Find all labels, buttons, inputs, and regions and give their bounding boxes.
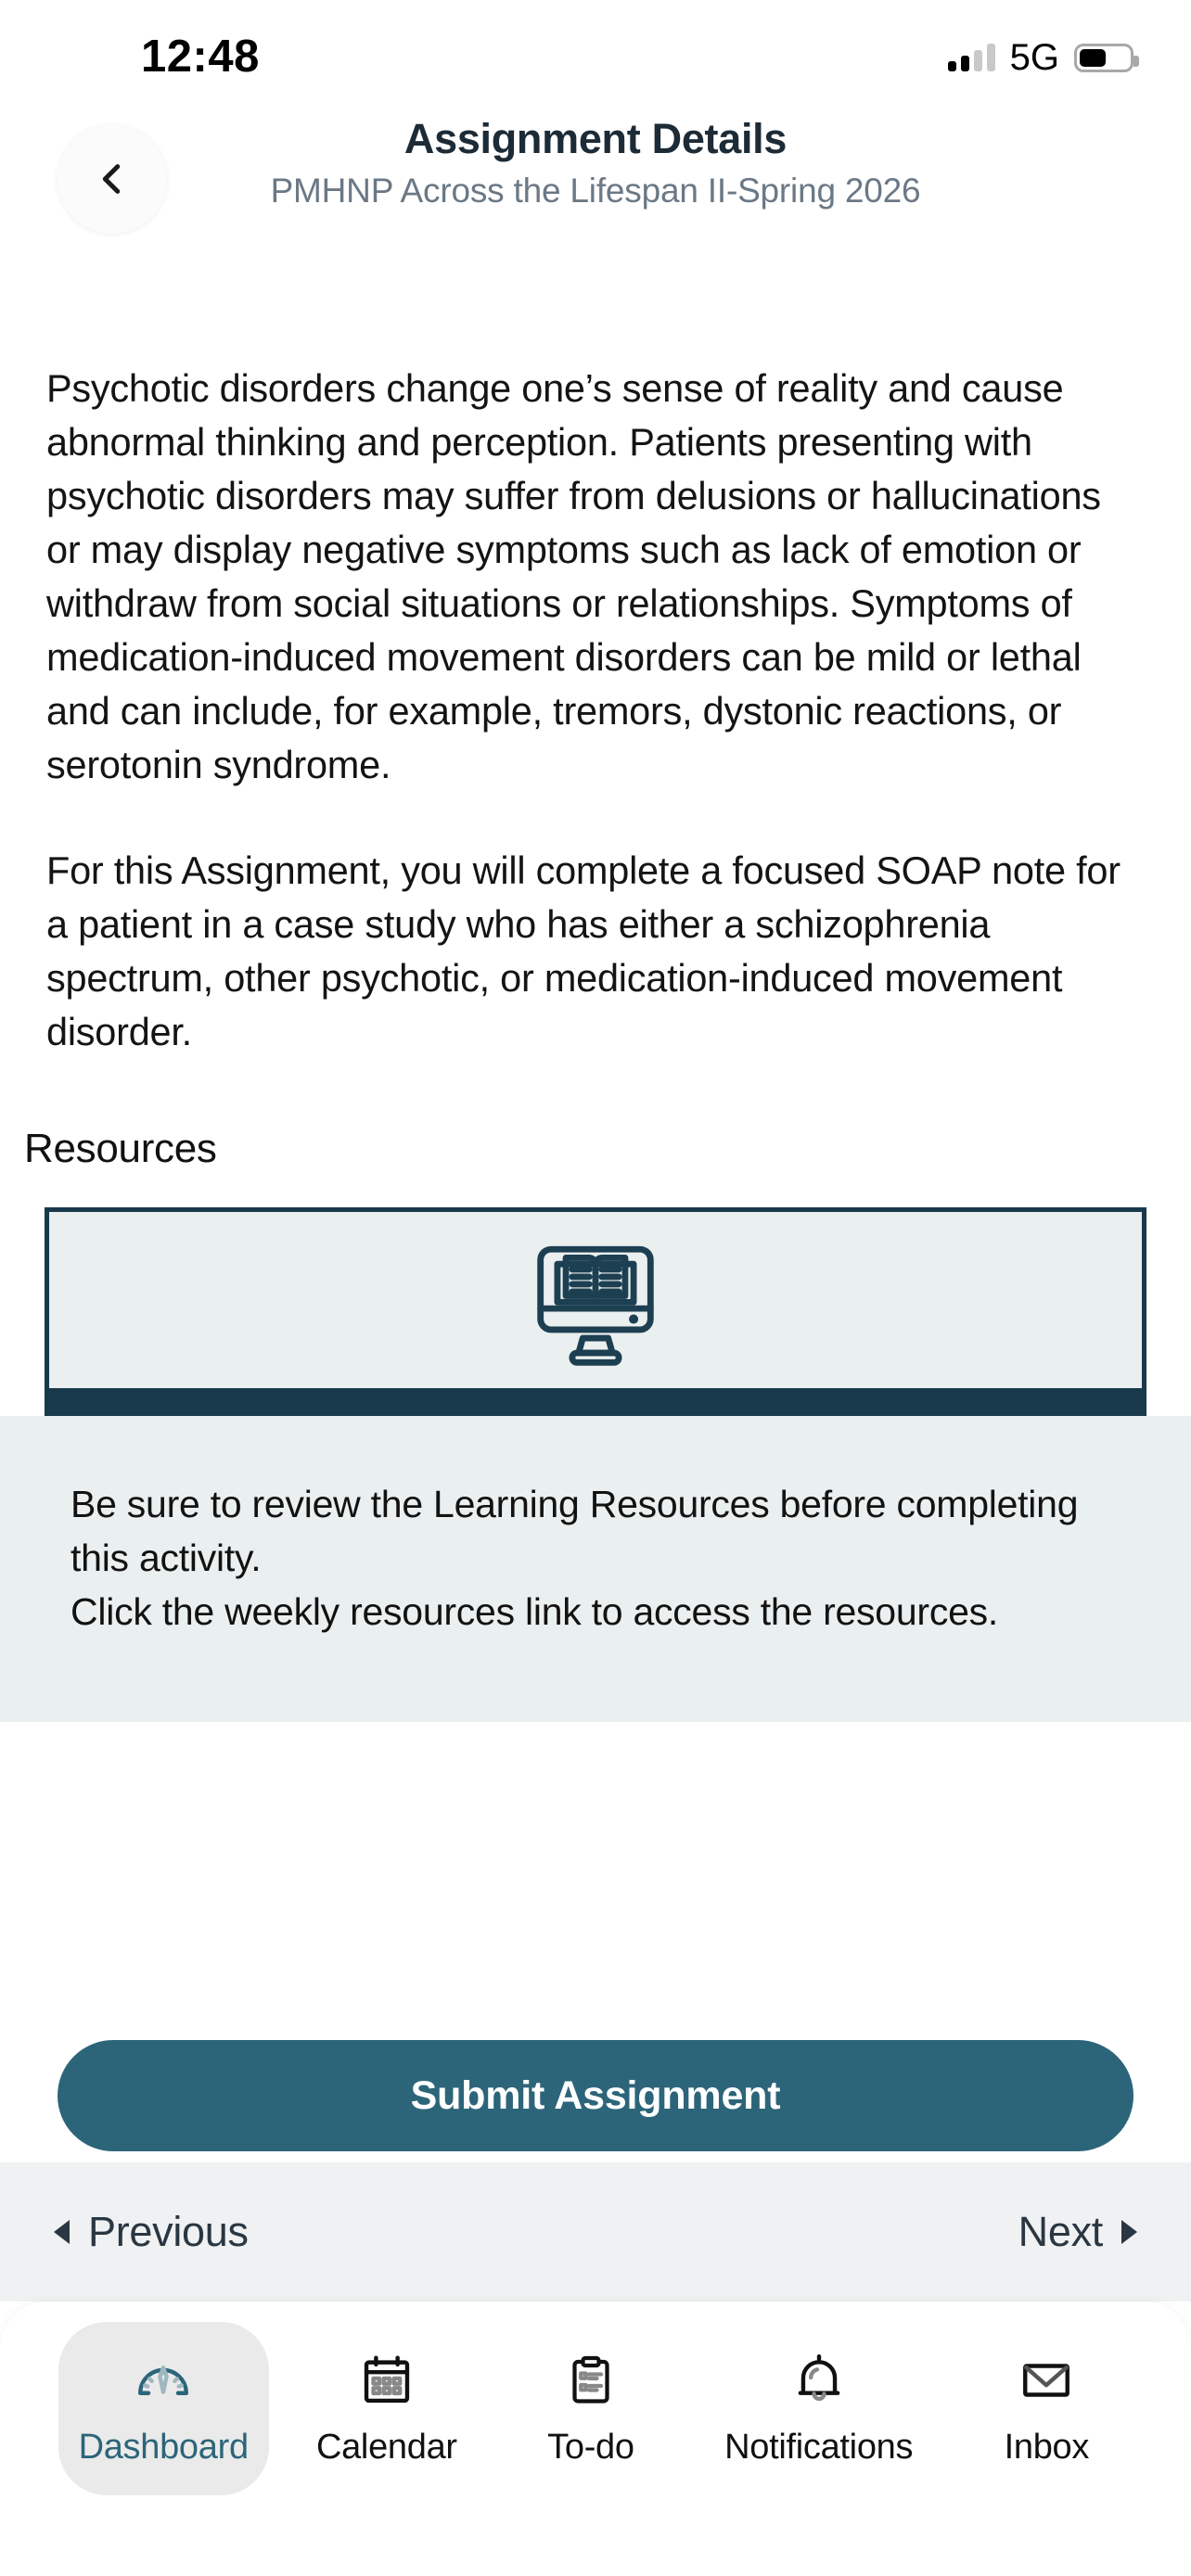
page-title: Assignment Details bbox=[0, 115, 1191, 163]
tab-label: Inbox bbox=[1005, 2428, 1089, 2468]
status-bar: 12:48 5G bbox=[0, 0, 1191, 104]
resource-text-line-1: Be sure to review the Learning Resources… bbox=[70, 1477, 1121, 1585]
assignment-paragraph-1: Psychotic disorders change one’s sense o… bbox=[0, 362, 1191, 792]
pager-bar: Previous Next bbox=[0, 2162, 1191, 2302]
assignment-paragraph-2: For this Assignment, you will complete a… bbox=[0, 844, 1191, 1059]
status-bar-clock: 12:48 bbox=[141, 31, 260, 83]
calendar-icon bbox=[358, 2346, 416, 2415]
triangle-right-icon bbox=[1121, 2220, 1137, 2244]
assignment-content[interactable]: Psychotic disorders change one’s sense o… bbox=[0, 252, 1191, 2162]
tab-label: Notifications bbox=[724, 2428, 913, 2468]
header-text-block: Assignment Details PMHNP Across the Life… bbox=[0, 104, 1191, 210]
resource-card-icon-area bbox=[45, 1207, 1146, 1388]
tab-label: Dashboard bbox=[79, 2428, 249, 2468]
tab-calendar[interactable]: Calendar bbox=[296, 2322, 478, 2495]
monitor-book-icon bbox=[528, 1232, 663, 1368]
gauge-icon bbox=[133, 2346, 194, 2415]
submit-assignment-button[interactable]: Submit Assignment bbox=[58, 2040, 1133, 2151]
resources-heading: Resources bbox=[0, 1126, 1191, 1172]
previous-label: Previous bbox=[88, 2208, 249, 2256]
battery-cap bbox=[1133, 56, 1139, 67]
resource-card-accent-bar bbox=[45, 1388, 1146, 1416]
tab-todo[interactable]: To-do bbox=[505, 2322, 677, 2495]
status-bar-indicators: 5G bbox=[948, 37, 1133, 79]
back-button[interactable] bbox=[58, 124, 167, 234]
clipboard-icon bbox=[563, 2346, 619, 2415]
next-label: Next bbox=[1018, 2208, 1103, 2256]
bottom-tab-bar: Dashboard Calendar bbox=[0, 2302, 1191, 2576]
battery-fill bbox=[1080, 49, 1106, 67]
resource-text-line-2: Click the weekly resources link to acces… bbox=[70, 1585, 1121, 1639]
resource-card[interactable]: Be sure to review the Learning Resources… bbox=[0, 1207, 1191, 1722]
app-header: Assignment Details PMHNP Across the Life… bbox=[0, 104, 1191, 252]
previous-button[interactable]: Previous bbox=[54, 2208, 249, 2256]
chevron-left-icon bbox=[91, 158, 134, 200]
network-type-label: 5G bbox=[1010, 37, 1059, 79]
tab-label: Calendar bbox=[316, 2428, 457, 2468]
battery-icon bbox=[1074, 44, 1133, 72]
cellular-signal-icon bbox=[948, 44, 995, 71]
tab-notifications[interactable]: Notifications bbox=[704, 2322, 933, 2495]
tab-inbox[interactable]: Inbox bbox=[960, 2322, 1133, 2495]
next-button[interactable]: Next bbox=[1018, 2208, 1137, 2256]
phone-screen: 12:48 5G Assignment Details PMHNP Across… bbox=[0, 0, 1191, 2576]
resource-card-body: Be sure to review the Learning Resources… bbox=[0, 1416, 1191, 1722]
bell-icon bbox=[790, 2346, 848, 2415]
triangle-left-icon bbox=[54, 2220, 70, 2244]
course-subtitle: PMHNP Across the Lifespan II-Spring 2026 bbox=[0, 172, 1191, 210]
course-banner-photo bbox=[74, 274, 1117, 310]
tab-label: To-do bbox=[547, 2428, 634, 2468]
envelope-icon bbox=[1018, 2346, 1075, 2415]
tab-dashboard[interactable]: Dashboard bbox=[58, 2322, 269, 2495]
